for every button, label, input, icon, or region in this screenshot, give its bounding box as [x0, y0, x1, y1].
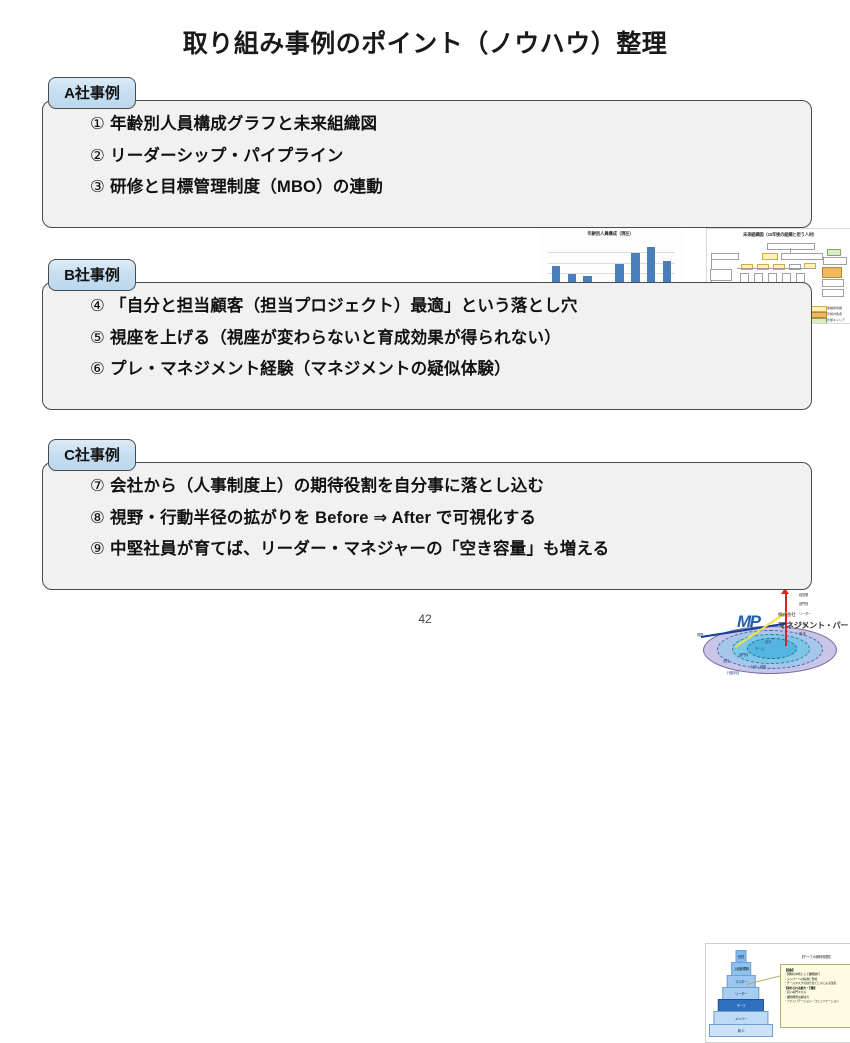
scope-ring-label: 全社	[723, 660, 729, 663]
org-node	[822, 279, 844, 287]
scope-radius-axis-label: 行動半径	[727, 672, 739, 675]
pyramid-level: 上級管理職	[731, 962, 751, 975]
list-item: ④「自分と担当顧客（担当プロジェクト）最適」という落とし穴	[90, 298, 578, 315]
list-item-label: リーダーシップ・パイプライン	[110, 147, 343, 165]
section-c: C社事例 ⑦会社から（人事制度上）の期待役割を自分事に落とし込む ⑧視野・行動半…	[42, 462, 812, 590]
org-chart-title: 未来組織図（10年後の組織と担う人材）	[707, 232, 850, 238]
org-node	[767, 243, 815, 250]
org-node	[789, 264, 801, 270]
list-item-number: ⑦	[90, 478, 105, 495]
pyramid-level: メンバー	[713, 1011, 768, 1024]
scope-ring-label: 自分	[765, 641, 771, 644]
scope-ring-label: チーム	[755, 648, 764, 651]
list-item-label: プレ・マネジメント経験（マネジメントの疑似体験）	[110, 360, 511, 378]
list-item: ⑥プレ・マネジメント経験（マネジメントの疑似体験）	[90, 361, 578, 378]
scope-level-label: 経営層	[799, 594, 808, 597]
list-item-number: ①	[90, 116, 105, 133]
org-node	[710, 269, 732, 281]
section-a: A社事例 ①年齢別人員構成グラフと未来組織図 ②リーダーシップ・パイプライン ③…	[42, 100, 812, 228]
logo-line-1: 株式会社	[778, 612, 796, 618]
org-legend-label: 外部キャリア	[827, 318, 845, 322]
list-item-label: 年齢別人員構成グラフと未来組織図	[110, 115, 377, 133]
list-item-number: ④	[90, 298, 105, 315]
org-node	[781, 253, 823, 260]
logo-line-2: マネジメント・パートナー	[778, 619, 850, 631]
list-item-label: 視座を上げる（視座が変わらないと育成効果が得られない）	[110, 329, 561, 347]
list-item-number: ⑤	[90, 330, 105, 347]
org-node	[822, 289, 844, 297]
org-node-successor	[762, 253, 778, 260]
logo-mark-icon: MP	[737, 613, 773, 631]
org-node	[711, 253, 739, 260]
list-item-number: ③	[90, 179, 105, 196]
list-item: ③研修と目標管理制度（MBO）の連動	[90, 179, 383, 196]
list-item: ⑧視野・行動半径の拡がりを Before ⇒ After で可視化する	[90, 510, 609, 527]
org-legend-label: 育成対象者	[827, 312, 842, 316]
scope-ring-label: 部門内	[739, 654, 748, 657]
list-item-label: 「自分と担当顧客（担当プロジェクト）最適」という落とし穴	[110, 297, 578, 315]
scope-view-axis-label: 視野	[697, 634, 703, 637]
list-item-label: 中堅社員が育てば、リーダー・マネジャーの「空き容量」も増える	[110, 540, 609, 558]
list-item-label: 会社から（人事制度上）の期待役割を自分事に落とし込む	[110, 477, 544, 495]
callout-body: 【役割】・現場の中核として業務遂行・メンバーへの指導と育成・チームタスクの割り当…	[781, 965, 850, 1004]
section-a-items: ①年齢別人員構成グラフと未来組織図 ②リーダーシップ・パイプライン ③研修と目標…	[90, 116, 383, 211]
section-b: B社事例 ④「自分と担当顧客（担当プロジェクト）最適」という落とし穴 ⑤視座を上…	[42, 282, 812, 410]
list-item-label: 研修と目標管理制度（MBO）の連動	[110, 178, 383, 196]
org-connector	[737, 268, 815, 269]
list-item-number: ⑥	[90, 361, 105, 378]
page-number: 42	[0, 612, 850, 626]
section-b-tab[interactable]: B社事例	[48, 259, 136, 291]
list-item: ⑤視座を上げる（視座が変わらないと育成効果が得られない）	[90, 330, 578, 347]
list-item-number: ⑧	[90, 510, 105, 527]
slide-canvas: 取り組み事例のポイント（ノウハウ）整理 A社事例 ①年齢別人員構成グラフと未来組…	[0, 0, 850, 638]
role-callout-box: 【チーフの期待役割】 【役割】・現場の中核として業務遂行・メンバーへの指導と育成…	[780, 964, 850, 1028]
company-logo: MP 株式会社 マネジメント・パートナー	[737, 612, 843, 634]
list-item-number: ⑨	[90, 541, 105, 558]
list-item-label: 視野・行動半径の拡がりを Before ⇒ After で可視化する	[110, 509, 536, 527]
callout-line: ・ファシリテーション／コミュニケーション	[781, 999, 850, 1003]
page-title: 取り組み事例のポイント（ノウハウ）整理	[0, 24, 850, 60]
org-node-external	[827, 249, 841, 256]
list-item: ⑦会社から（人事制度上）の期待役割を自分事に落とし込む	[90, 478, 609, 495]
list-item: ⑨中堅社員が育てば、リーダー・マネジャーの「空き容量」も増える	[90, 541, 609, 558]
org-node-development	[822, 267, 842, 278]
section-c-items: ⑦会社から（人事制度上）の期待役割を自分事に落とし込む ⑧視野・行動半径の拡がり…	[90, 478, 609, 573]
pyramid-level: チーフ	[718, 999, 764, 1012]
org-node-successor	[773, 264, 785, 270]
list-item: ②リーダーシップ・パイプライン	[90, 148, 383, 165]
pyramid-level: マスター	[727, 975, 756, 988]
list-item-number: ②	[90, 148, 105, 165]
pyramid-levels: 役員上級管理職マスターリーダーチーフメンバー新 人	[710, 950, 772, 1036]
list-item: ①年齢別人員構成グラフと未来組織図	[90, 116, 383, 133]
pyramid-level: リーダー	[722, 987, 759, 1000]
scope-level-label: 部門長	[799, 603, 808, 606]
callout-header: 【チーフの期待役割】	[781, 955, 850, 960]
org-legend-swatch-external	[811, 318, 827, 324]
pyramid-level: 役員	[736, 950, 747, 963]
pyramid-level: 新 人	[709, 1024, 773, 1037]
scope-ring-label: 社外・顧客	[751, 666, 766, 669]
section-a-tab[interactable]: A社事例	[48, 77, 136, 109]
org-node	[823, 257, 847, 265]
org-node-successor	[757, 264, 769, 270]
org-legend-label: 後継者候補	[827, 306, 842, 310]
section-c-tab[interactable]: C社事例	[48, 439, 136, 471]
role-pyramid-diagram: 役員上級管理職マスターリーダーチーフメンバー新 人 【チーフの期待役割】 【役割…	[705, 943, 850, 1043]
org-node-successor	[741, 264, 753, 270]
section-b-items: ④「自分と担当顧客（担当プロジェクト）最適」という落とし穴 ⑤視座を上げる（視座…	[90, 298, 578, 393]
chart-title: 年齢別人員構成（現在）	[538, 231, 683, 237]
